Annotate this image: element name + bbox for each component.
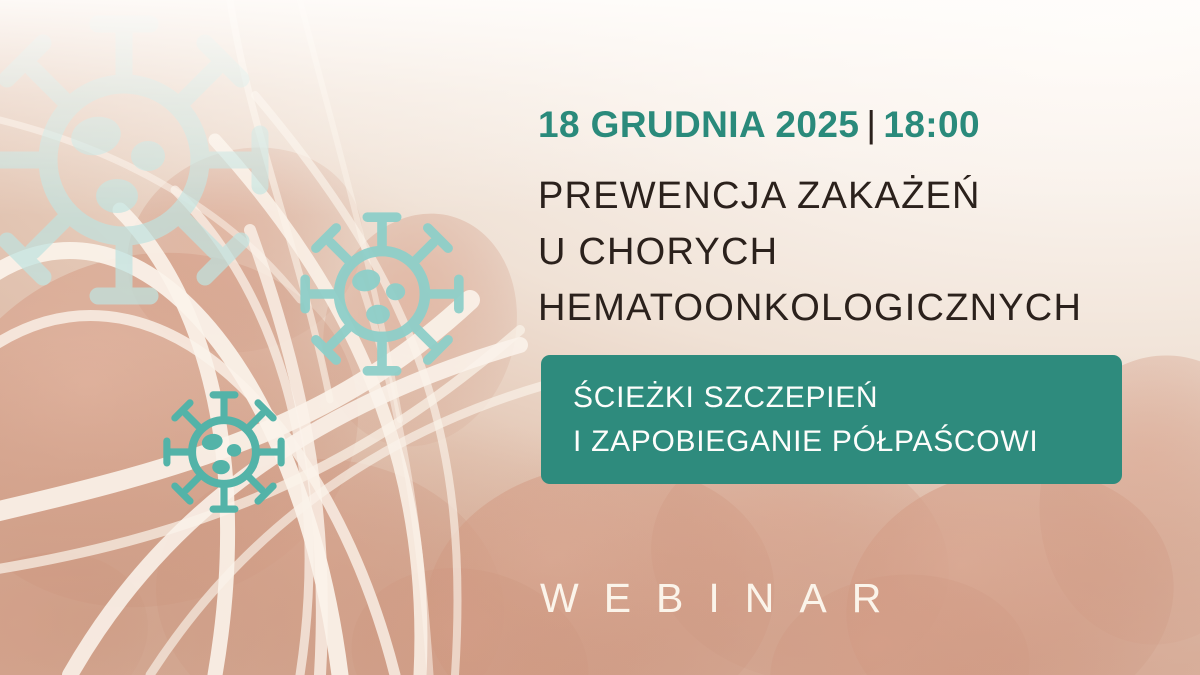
ribbon-curve xyxy=(250,230,322,675)
content-column: 18 GRUDNIA 2025|18:00 PREWENCJA ZAKAŻEŃ … xyxy=(538,0,1158,675)
title-line-2: U CHORYCH xyxy=(538,224,1158,280)
event-time: 18:00 xyxy=(883,104,980,145)
ribbon-curve xyxy=(0,120,300,300)
event-datetime: 18 GRUDNIA 2025|18:00 xyxy=(538,104,980,146)
virus-icon-medium xyxy=(305,217,459,371)
subtitle-line-1: ŚCIEŻKI SZCZEPIEŃ xyxy=(573,376,1122,420)
virus-icon-large xyxy=(0,24,260,296)
ribbon-curve xyxy=(120,210,228,675)
ribbon-curve xyxy=(175,190,309,675)
datetime-separator: | xyxy=(859,104,883,145)
subtitle-banner: ŚCIEŻKI SZCZEPIEŃ I ZAPOBIEGANIE PÓŁPAŚC… xyxy=(541,355,1122,484)
event-date: 18 GRUDNIA 2025 xyxy=(538,104,859,145)
blood-cell xyxy=(0,209,396,650)
subtitle-line-2: I ZAPOBIEGANIE PÓŁPAŚCOWI xyxy=(573,420,1122,464)
ribbon-curve xyxy=(300,0,400,420)
ribbon-group xyxy=(0,0,545,675)
ribbon-curve xyxy=(255,95,458,675)
ribbon-curve xyxy=(150,385,545,675)
ribbon-curve xyxy=(0,316,395,675)
ribbon-curve xyxy=(0,300,470,520)
blood-cell xyxy=(0,525,171,675)
ribbon-curve xyxy=(230,0,330,400)
webinar-label: WEBINAR xyxy=(540,575,906,622)
page-title: PREWENCJA ZAKAŻEŃ U CHORYCH HEMATOONKOLO… xyxy=(538,168,1158,336)
title-line-3: HEMATOONKOLOGICZNYCH xyxy=(538,280,1158,336)
ribbon-curve xyxy=(0,330,520,575)
blood-cell xyxy=(133,432,526,675)
webinar-banner: 18 GRUDNIA 2025|18:00 PREWENCJA ZAKAŻEŃ … xyxy=(0,0,1200,675)
ribbon-curve xyxy=(360,280,430,675)
ribbon-curve xyxy=(0,251,340,675)
ribbon-curve xyxy=(70,345,520,675)
ribbon-curve xyxy=(215,140,421,675)
blood-cell xyxy=(296,190,544,469)
title-line-1: PREWENCJA ZAKAŻEŃ xyxy=(538,168,1158,224)
blood-cell xyxy=(98,115,392,385)
virus-icon-small xyxy=(167,395,281,509)
